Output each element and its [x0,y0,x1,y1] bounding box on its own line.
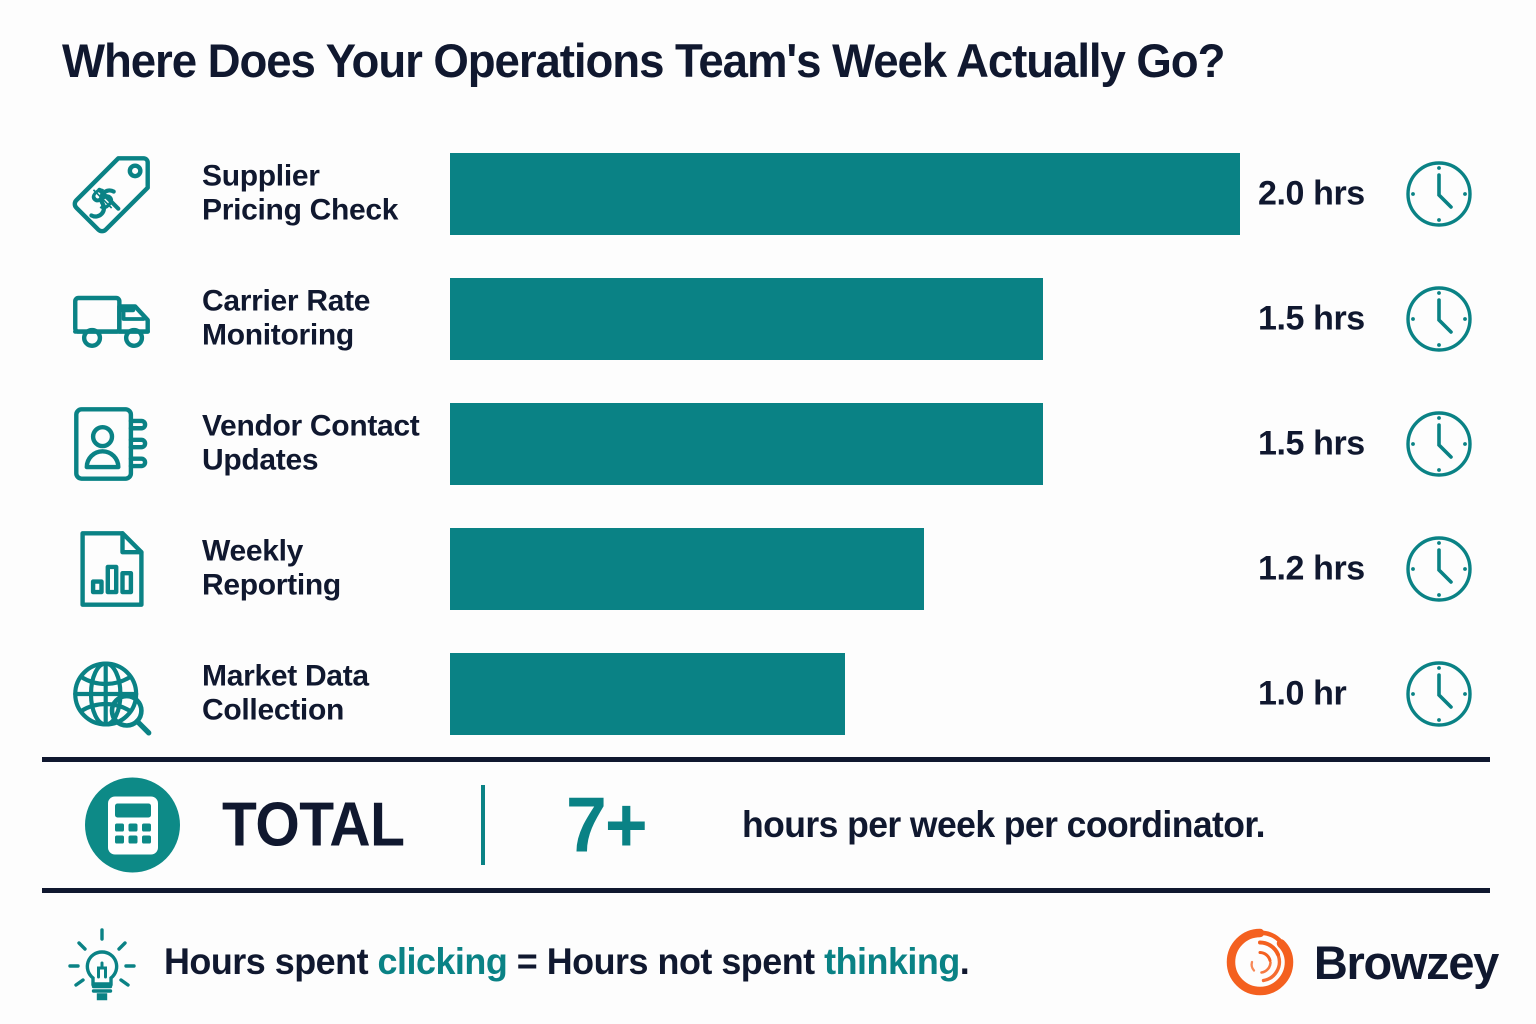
task-hours-bar [450,653,845,735]
tagline-period: . [960,941,969,982]
task-label-line-2: Reporting [202,569,442,604]
task-hours-bar [450,528,924,610]
task-label-line-1: Market Data [202,659,442,694]
chart-row: Market DataCollection1.0 hr [0,631,1536,756]
task-label-line-2: Pricing Check [202,194,442,229]
task-label-line-2: Monitoring [202,319,442,354]
delivery-truck-icon [70,277,154,361]
brand-name: Browzey [1314,935,1498,990]
bar-track [450,153,1240,235]
task-hours-value: 1.0 hr [1258,674,1346,713]
report-document-icon [70,527,154,611]
chart-row: Vendor ContactUpdates1.5 hrs [0,381,1536,506]
price-tag-dollar-icon: $ [70,152,154,236]
divider-below-total [42,888,1490,893]
chart-row: $SupplierPricing Check2.0 hrs [0,131,1536,256]
tagline-text-1: Hours spent [164,941,378,982]
footer: Hours spent clicking = Hours not spent t… [0,900,1536,1024]
task-label-line-1: Vendor Contact [202,409,442,444]
task-hours-value: 1.5 hrs [1258,424,1365,463]
task-hours-value: 1.2 hrs [1258,549,1365,588]
globe-search-icon [70,652,154,736]
clock-icon [1404,659,1474,729]
total-summary-band: TOTAL 7+ hours per week per coordinator. [0,762,1536,888]
clock-icon [1404,534,1474,604]
brand-logo: Browzey [1224,926,1498,998]
task-label: SupplierPricing Check [202,159,442,228]
lightbulb-icon [62,922,142,1002]
chart-row: WeeklyReporting1.2 hrs [0,506,1536,631]
chart-row: Carrier RateMonitoring1.5 hrs [0,256,1536,381]
bar-track [450,528,1240,610]
tagline-accent-thinking: thinking [824,941,960,982]
page-title: Where Does Your Operations Team's Week A… [62,33,1459,88]
bar-track [450,403,1240,485]
task-label: Carrier RateMonitoring [202,284,442,353]
task-hours-bar [450,403,1043,485]
tagline-text-2: = Hours not spent [507,941,824,982]
tagline: Hours spent clicking = Hours not spent t… [164,941,969,983]
task-label-line-1: Supplier [202,159,442,194]
clock-icon [1404,409,1474,479]
tagline-accent-clicking: clicking [378,941,508,982]
total-value: 7+ [566,780,646,871]
total-label: TOTAL [222,790,405,861]
task-label: WeeklyReporting [202,534,442,603]
task-label: Market DataCollection [202,659,442,728]
task-hours-bar [450,278,1043,360]
total-vertical-divider [481,785,485,865]
calculator-icon [85,778,180,873]
task-hours-value: 1.5 hrs [1258,299,1365,338]
address-book-icon [70,402,154,486]
task-hours-value: 2.0 hrs [1258,174,1365,213]
svg-text:$: $ [83,179,121,217]
task-label-line-1: Carrier Rate [202,284,442,319]
task-label: Vendor ContactUpdates [202,409,442,478]
bar-track [450,653,1240,735]
task-hours-bar [450,153,1240,235]
bar-track [450,278,1240,360]
task-breakdown-chart: $SupplierPricing Check2.0 hrsCarrier Rat… [0,131,1536,756]
task-label-line-2: Collection [202,694,442,729]
browzey-swirl-icon [1224,926,1296,998]
clock-icon [1404,159,1474,229]
clock-icon [1404,284,1474,354]
task-label-line-2: Updates [202,444,442,479]
task-label-line-1: Weekly [202,534,442,569]
total-caption: hours per week per coordinator. [742,804,1265,846]
